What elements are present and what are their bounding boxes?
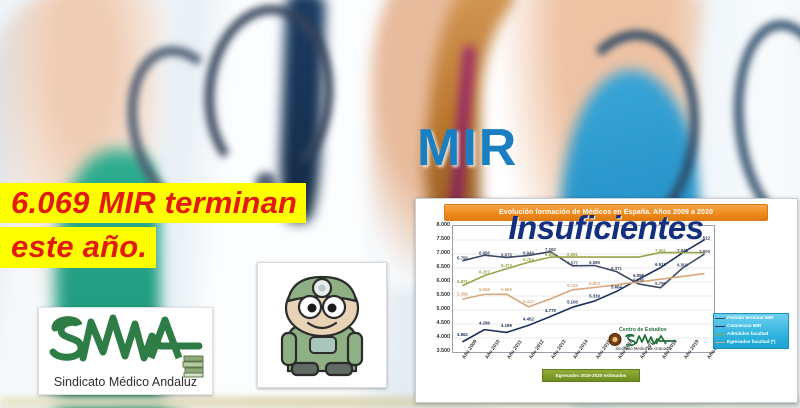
data-point-label: 4.199	[501, 323, 512, 328]
mir-label: MIR	[417, 122, 518, 174]
legend-label: Admitidos facultad	[727, 331, 768, 336]
data-point-label: 5.319	[589, 294, 600, 299]
data-point-label: 6.473	[501, 263, 512, 268]
data-point-label: 6.889	[545, 252, 556, 257]
y-tick-label: 7.500	[437, 236, 451, 242]
y-tick-label: 6.000	[437, 278, 451, 284]
headline: 6.069 MIR terminan este año.	[0, 183, 385, 268]
data-point-label: 4.299	[479, 320, 490, 325]
chart-embedded-sma-logo: Centro de Estudios Sindicato Médico de G…	[600, 327, 686, 354]
data-point-label: 5.112	[523, 299, 534, 304]
data-point-label: 6.098	[633, 273, 644, 278]
insuficientes-overlay: Insuficientes	[456, 211, 756, 244]
data-point-label: 6.513	[655, 262, 666, 267]
data-point-label: 6.956	[479, 250, 490, 255]
y-axis-tick-labels: 8.0007.5007.0006.5006.0005.5005.0004.500…	[424, 225, 450, 351]
legend-swatch	[715, 326, 725, 328]
headline-line-1: 6.069 MIR terminan	[0, 183, 306, 223]
data-point-label: 6.500	[677, 262, 688, 267]
embedded-sma-mark-icon	[608, 333, 678, 346]
y-tick-label: 6.500	[437, 264, 451, 270]
legend-item: Egresados facultad (*)	[714, 338, 788, 346]
y-tick-label: 7.000	[437, 250, 451, 256]
data-point-label: 5.389	[457, 292, 468, 297]
y-tick-label: 3.500	[437, 348, 451, 354]
doctor-cartoon-icon	[257, 262, 387, 388]
y-tick-label: 5.000	[437, 306, 451, 312]
data-point-label: 5.803	[589, 281, 600, 286]
data-point-label: 5.722	[567, 283, 578, 288]
sma-wordmark-icon	[47, 312, 204, 366]
data-point-label: 5.100	[567, 299, 578, 304]
sma-logo-caption: Sindicato Médico Andaluz	[39, 375, 212, 389]
sma-logo: Sindicato Médico Andaluz	[38, 307, 213, 395]
data-point-label: 4.770	[545, 308, 556, 313]
data-point-label: 4.452	[523, 316, 534, 321]
data-point-label: 5.664	[611, 284, 622, 289]
data-point-label: 6.577	[567, 260, 578, 265]
data-point-label: 6.589	[589, 260, 600, 265]
data-point-label: 6.875	[501, 252, 512, 257]
y-tick-label: 5.500	[437, 292, 451, 298]
legend-item: Podrían terminar MIR	[714, 314, 788, 322]
data-point-label: 5.565	[501, 287, 512, 292]
data-point-label: 3.862	[457, 332, 468, 337]
data-point-label: 6.949	[523, 251, 534, 256]
legend-label: Podrían terminar MIR	[727, 315, 773, 320]
legend-label: Egresados facultad (*)	[727, 339, 776, 344]
data-point-label: 5.558	[479, 287, 490, 292]
data-point-label: 7.042	[677, 248, 688, 253]
y-tick-label: 4.000	[437, 334, 451, 340]
data-point-label: 5.930	[633, 277, 644, 282]
poster-canvas: MIR 6.069 MIR terminan este año. Sindica…	[0, 0, 800, 408]
data-point-label: 6.371	[611, 266, 622, 271]
y-tick-label: 8.000	[437, 222, 451, 228]
data-point-label: 7.051	[655, 248, 666, 253]
chart-legend: Podrían terminar MIRComienzan MIRAdmitid…	[713, 313, 789, 349]
legend-swatch	[715, 334, 725, 336]
data-point-label: 6.891	[567, 252, 578, 257]
data-point-label: 5.871	[457, 279, 468, 284]
legend-swatch	[715, 318, 725, 320]
data-point-label: 6.704	[523, 257, 534, 262]
legend-item: Admitidos facultad	[714, 330, 788, 338]
data-point-label: 5.796	[655, 281, 666, 286]
headline-line-2: este año.	[0, 227, 156, 267]
legend-label: Comienzan MIR	[727, 323, 761, 328]
y-tick-label: 4.500	[437, 320, 451, 326]
chart-panel: Evolución formación de Médicos en España…	[415, 198, 798, 403]
legend-swatch	[715, 342, 725, 344]
chart-plot-area: 8.0007.5007.0006.5006.0005.5005.0004.500…	[424, 221, 791, 398]
chart-annotation-estimated: Egresados 2019-2020 estimados	[542, 369, 640, 382]
data-point-label: 6.227	[479, 270, 490, 275]
data-point-label: 6.756	[457, 256, 468, 261]
data-point-label: 7.000	[699, 249, 710, 254]
legend-item: Comienzan MIR	[714, 322, 788, 330]
embedded-logo-line2: Sindicato Médico de Granada	[600, 346, 686, 351]
